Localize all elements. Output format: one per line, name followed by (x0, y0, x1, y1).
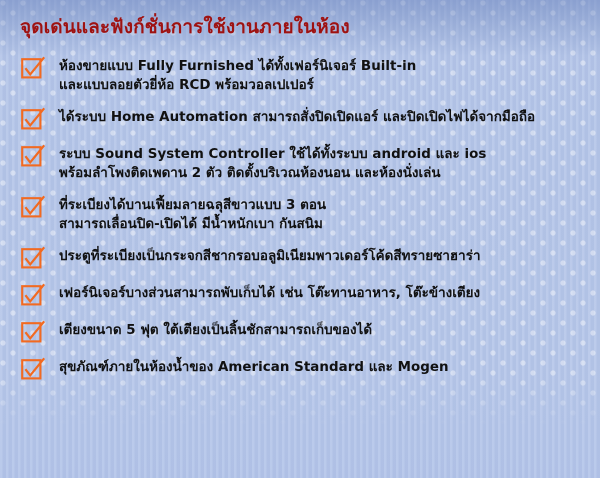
list-item: เฟอร์นิเจอร์บางส่วนสามารถพับเก็บได้ เช่น… (20, 283, 586, 307)
list-item: ได้ระบบ Home Automation สามารถสั่งปิดเปิ… (20, 107, 586, 131)
list-item-label: ห้องขายแบบ Fully Furnished ได้ทั้งเฟอร์น… (59, 56, 416, 95)
list-item: เตียงขนาด 5 ฟุต ใต้เตียงเป็นลิ้นชักสามาร… (20, 320, 586, 344)
list-item: ระบบ Sound System Controller ใช้ได้ทั้งร… (20, 144, 586, 183)
checkbox-checked-icon (20, 58, 42, 80)
list-item-label: เฟอร์นิเจอร์บางส่วนสามารถพับเก็บได้ เช่น… (59, 283, 480, 303)
list-item: สุขภัณฑ์ภายในห้องน้ำของ American Standar… (20, 357, 586, 381)
list-item: ประตูที่ระเบียงเป็นกระจกสีชากรอบอลูมิเนี… (20, 246, 586, 270)
checkbox-checked-icon (20, 109, 42, 131)
list-item-label: สุขภัณฑ์ภายในห้องน้ำของ American Standar… (59, 357, 449, 377)
checkbox-checked-icon (20, 146, 42, 168)
list-item: ที่ระเบียงได้บานเฟี้ยมลายฉลุสีขาวแบบ 3 ต… (20, 195, 586, 234)
list-item-label: ประตูที่ระเบียงเป็นกระจกสีชากรอบอลูมิเนี… (59, 246, 481, 266)
list-item-label: ได้ระบบ Home Automation สามารถสั่งปิดเปิ… (59, 107, 535, 127)
checkbox-checked-icon (20, 322, 42, 344)
list-item-label: ที่ระเบียงได้บานเฟี้ยมลายฉลุสีขาวแบบ 3 ต… (59, 195, 326, 234)
feature-poster: จุดเด่นและฟังก์ชั่นการใช้งานภายในห้อง ห้… (0, 0, 600, 478)
list-item-label: เตียงขนาด 5 ฟุต ใต้เตียงเป็นลิ้นชักสามาร… (59, 320, 372, 340)
checkbox-checked-icon (20, 359, 42, 381)
checkbox-checked-icon (20, 197, 42, 219)
checkbox-checked-icon (20, 285, 42, 307)
page-title: จุดเด่นและฟังก์ชั่นการใช้งานภายในห้อง (20, 16, 584, 40)
list-item-label: ระบบ Sound System Controller ใช้ได้ทั้งร… (59, 144, 486, 183)
feature-list: ห้องขายแบบ Fully Furnished ได้ทั้งเฟอร์น… (0, 56, 600, 394)
list-item: ห้องขายแบบ Fully Furnished ได้ทั้งเฟอร์น… (20, 56, 586, 95)
checkbox-checked-icon (20, 248, 42, 270)
